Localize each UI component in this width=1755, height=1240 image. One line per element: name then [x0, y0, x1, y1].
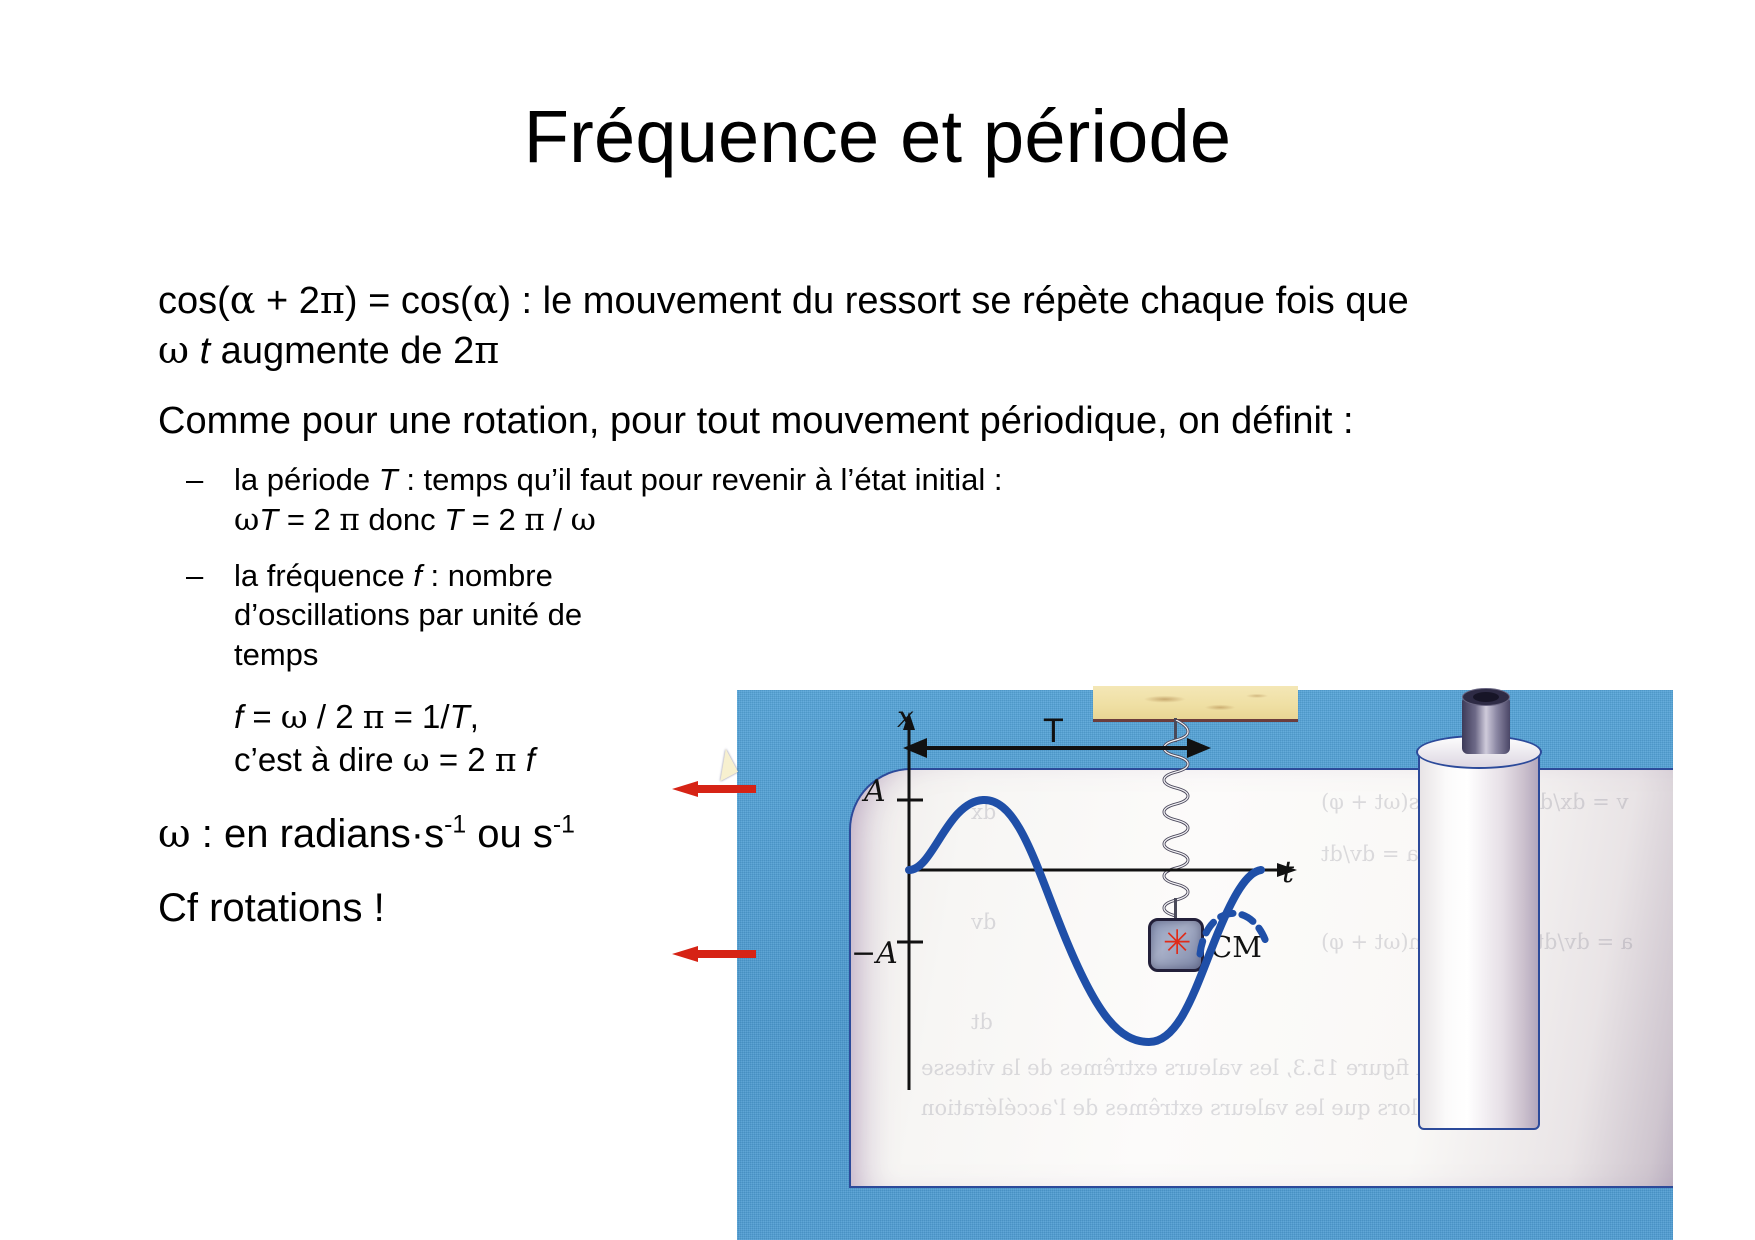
variable-f: f [526, 741, 535, 778]
roller-knob-hole [1473, 692, 1499, 702]
pi-symbol: π [363, 697, 385, 736]
omega-symbol: ω [281, 697, 308, 736]
text-frag: , [470, 698, 479, 735]
text-frag: = 2 [430, 741, 495, 778]
pi-symbol: π [320, 278, 345, 322]
axis-label-amplitude-negative: −A [851, 936, 898, 971]
formula-period: ωT = 2 π donc T = 2 π / ω [234, 500, 1428, 540]
center-of-mass-star-icon: ✳ [1163, 930, 1191, 958]
omega-symbol: ω [403, 740, 430, 779]
ghost-text: la figure 15.3, les valeurs extrêmes de … [921, 1056, 1435, 1080]
ghost-text: a = dv/dt [1321, 842, 1419, 866]
text-frag: ou s [466, 812, 553, 856]
bullet-dash: – [186, 556, 203, 595]
text-frag: ) = cos( [345, 280, 473, 322]
variable-T: T [444, 502, 463, 537]
cylinder-roller [1418, 750, 1540, 1130]
variable-T: T [450, 698, 470, 735]
paragraph-definitions-intro: Comme pour une rotation, pour tout mouve… [158, 397, 1428, 446]
text-frag: = 1/ [384, 698, 449, 735]
list-item-text: la fréquence f : nombre d’oscillations p… [234, 556, 588, 674]
text-frag: c’est à dire [234, 741, 403, 778]
pi-symbol: π [339, 502, 359, 538]
bullet-dash: – [186, 460, 203, 499]
omega-symbol: ω [158, 811, 191, 857]
pi-symbol: π [524, 502, 544, 538]
list-item-text: la période T : temps qu’il faut pour rev… [234, 460, 1428, 499]
variable-t: t [200, 330, 211, 372]
text-frag: cos( [158, 280, 230, 322]
text-frag: : en radians·s [191, 812, 444, 856]
omega-symbol: ω [234, 502, 259, 538]
page-title: Fréquence et période [0, 98, 1755, 176]
wood-grain-texture [1093, 686, 1298, 719]
text-frag: = 2 [278, 502, 339, 537]
axis-label-t: t [1282, 855, 1294, 890]
text-frag: = 2 [463, 502, 524, 537]
text-frag: la fréquence [234, 558, 413, 593]
text-frag: ) : le mouvement du ressort se répète ch… [498, 280, 1408, 322]
ghost-text: alors que les valeurs extrêmes de l’accé… [921, 1096, 1430, 1120]
text-frag: : temps qu’il faut pour revenir à l’état… [398, 462, 1003, 497]
text-frag: augmente de 2 [210, 330, 474, 372]
spring-coil [1158, 720, 1194, 920]
red-arrow-icon-bottom [672, 946, 756, 962]
text-frag: / 2 [308, 698, 363, 735]
ghost-text: dv [971, 910, 996, 934]
omega-symbol: ω [158, 328, 189, 372]
omega-symbol: ω [571, 502, 596, 538]
red-arrow-icon-top [672, 781, 756, 797]
text-frag: + 2 [255, 280, 319, 322]
exponent: -1 [553, 811, 575, 838]
alpha-symbol: α [473, 278, 499, 322]
list-item-periode: – la période T : temps qu’il faut pour r… [158, 460, 1428, 540]
axis-label-x: x [897, 700, 914, 735]
cm-motion-arc [1196, 890, 1274, 960]
list-item-frequence: – la fréquence f : nombre d’oscillations… [158, 556, 588, 674]
definitions-list: – la période T : temps qu’il faut pour r… [158, 460, 1428, 674]
ghost-text: dx [971, 800, 996, 824]
variable-T: T [259, 502, 278, 537]
paragraph-cos-identity: cos(α + 2π) = cos(α) : le mouvement du r… [158, 276, 1428, 377]
wooden-support-bar [1093, 686, 1298, 722]
figure-paper-sheet: dx v = dx/dt = −ωA·cos(ωt + φ) a = dv/dt… [849, 768, 1673, 1188]
pi-symbol: π [474, 328, 499, 372]
variable-f: f [413, 558, 422, 593]
exponent: -1 [444, 811, 466, 838]
text-frag: = [243, 698, 281, 735]
pi-symbol: π [495, 740, 517, 779]
text-frag: donc [360, 502, 444, 537]
text-frag: / [545, 502, 571, 537]
variable-f: f [234, 698, 243, 735]
text-frag: la période [234, 462, 379, 497]
variable-T: T [379, 462, 398, 497]
figure-period-label: T [1043, 712, 1064, 751]
axis-label-amplitude-positive: A [864, 774, 886, 809]
alpha-symbol: α [230, 278, 256, 322]
ghost-text: dt [971, 1010, 993, 1034]
